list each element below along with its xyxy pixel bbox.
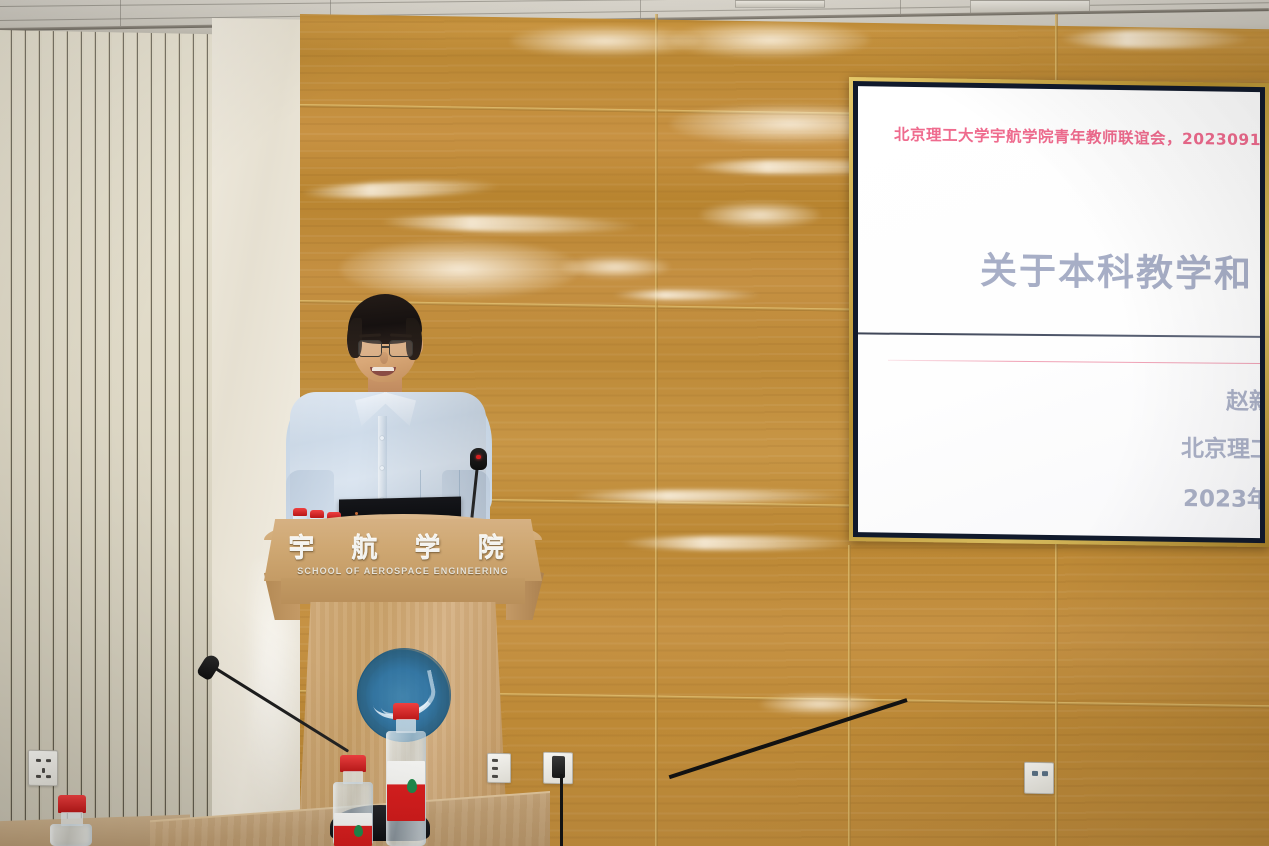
podium-microphone-head <box>470 448 487 470</box>
bottle-label <box>387 761 425 821</box>
projection-screen-bezel: 北京理工大学宇航学院青年教师联谊会，20230911 关于本科教学和 赵新 北京… <box>853 81 1265 543</box>
podium-neck <box>281 578 525 604</box>
wood-seam <box>655 14 658 846</box>
podium-chinese-label: 宇 航 学 院 <box>264 528 542 565</box>
projection-screen-surface: 北京理工大学宇航学院青年教师联谊会，20230911 关于本科教学和 赵新 北京… <box>858 86 1260 538</box>
acoustic-slat-wall-shading <box>0 30 213 846</box>
outlet-slot-icon <box>46 775 51 778</box>
outlet-slot-icon <box>36 759 41 762</box>
wall-glare <box>570 490 850 502</box>
wall-glare <box>620 536 860 550</box>
bottle-body <box>50 824 92 846</box>
slide-affiliation: 北京理工大 <box>1181 429 1260 465</box>
outlet-slot-icon <box>1032 771 1038 776</box>
power-cable <box>560 774 563 846</box>
outlet-slot-icon <box>492 759 498 762</box>
bottle-cap <box>58 795 86 813</box>
bottle-label-logo-icon <box>407 779 417 793</box>
speaker-teeth <box>372 367 394 371</box>
conference-room-photo: 北京理工大学宇航学院青年教师联谊会，20230911 关于本科教学和 赵新 北京… <box>0 0 1269 846</box>
ceiling-grid-line <box>120 0 121 26</box>
ceiling-vent <box>735 0 825 8</box>
slide-divider-pink <box>888 360 1260 365</box>
bottle-cap <box>293 508 307 516</box>
wood-seam <box>848 545 851 846</box>
wall-glare <box>1060 30 1250 48</box>
glasses-bridge <box>382 346 389 348</box>
outlet-slot-icon <box>36 775 41 778</box>
slide-date: 2023年0 <box>1183 479 1260 515</box>
bottle-label <box>334 813 372 846</box>
outlet-slot-icon <box>492 767 498 770</box>
water-bottle[interactable] <box>383 703 427 846</box>
wall-outlet[interactable] <box>28 750 58 787</box>
bottle-cap <box>340 755 366 772</box>
slide-divider-dark <box>858 332 1260 337</box>
wall-glare <box>612 290 762 300</box>
outlet-slot-icon <box>1042 771 1048 776</box>
projection-screen-frame: 北京理工大学宇航学院青年教师联谊会，20230911 关于本科教学和 赵新 北京… <box>849 77 1269 547</box>
microphone-led-indicator <box>476 455 481 459</box>
bottle-label-logo-icon <box>354 825 363 837</box>
outlet-slot-icon <box>492 775 498 778</box>
bottle-cap <box>393 703 419 720</box>
wall-outlet[interactable] <box>487 753 511 783</box>
slide-presenter-name: 赵新 <box>1226 382 1260 417</box>
wall-outlet[interactable] <box>1024 762 1054 794</box>
outlet-slot-icon <box>46 759 51 762</box>
water-bottle[interactable] <box>330 755 374 846</box>
speaker-nose <box>380 352 388 364</box>
slide-header-text: 北京理工大学宇航学院青年教师联谊会，20230911 <box>894 123 1260 151</box>
water-bottle[interactable] <box>46 795 94 846</box>
wall-outlet[interactable] <box>543 752 573 784</box>
power-plug-icon <box>552 756 565 778</box>
glasses-lens-right <box>389 340 413 357</box>
bottle-cap <box>310 510 324 518</box>
podium-english-label: SCHOOL OF AEROSPACE ENGINEERING <box>264 566 542 576</box>
outlet-slot-icon <box>42 768 45 773</box>
slide-title-text: 关于本科教学和 <box>980 240 1253 298</box>
glasses-lens-left <box>358 340 382 357</box>
